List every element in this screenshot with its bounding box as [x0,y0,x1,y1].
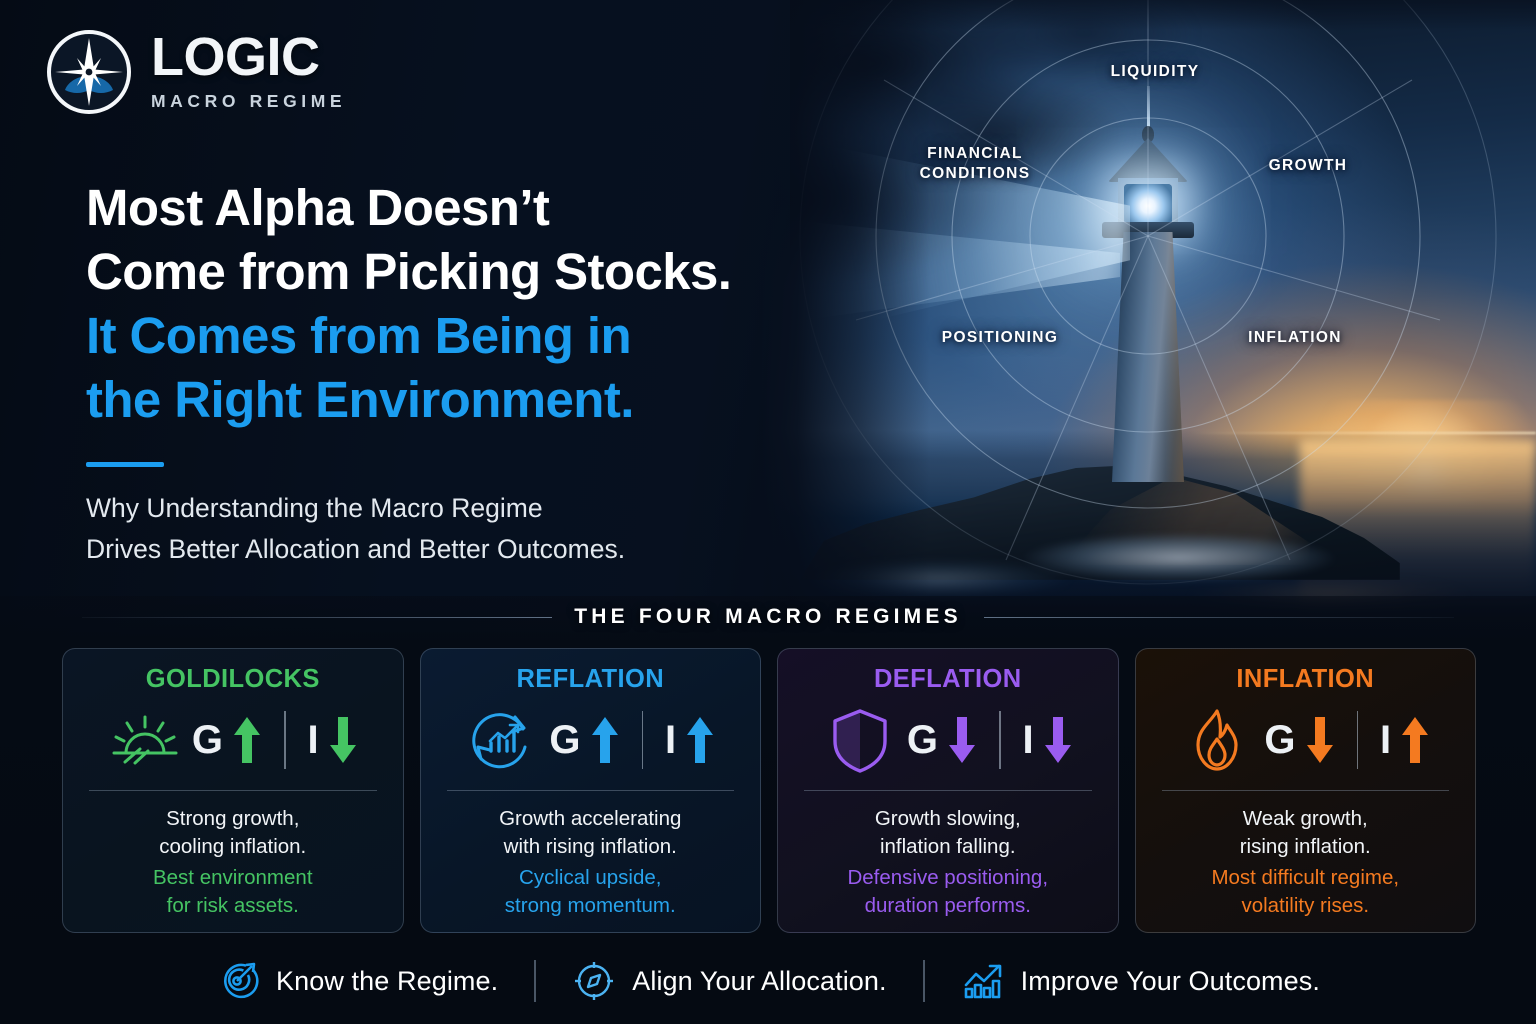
footer-step-improve-your-outcomes[interactable]: Improve Your Outcomes. [961,959,1320,1003]
shield-icon [823,703,897,777]
indicator-divider [642,711,644,769]
section-rule-right [984,617,1454,618]
regime-description: Growth accelerating with rising inflatio… [439,805,743,860]
footer-steps: Know the Regime. Align Your Allocation. [0,946,1536,1016]
regime-indicators: G I [81,698,385,782]
sunrise-icon [108,703,182,777]
subheadline-block: Why Understanding the Macro Regime Drive… [86,488,786,569]
footer-divider [923,960,925,1002]
inflation-label: I [1380,720,1391,760]
growth-label: G [1264,720,1295,760]
target-arrow-icon [216,959,260,1003]
growth-indicator: G [192,713,262,767]
arrow-down-icon [1305,713,1335,767]
regime-desc-line-2: inflation falling. [796,833,1100,861]
radar-label-inflation: INFLATION [1230,328,1360,348]
regime-desc-line-2: cooling inflation. [81,833,385,861]
regime-description: Weak growth, rising inflation. [1154,805,1458,860]
regime-indicators: G I [796,698,1100,782]
headline-line-3: It Comes from Being in [86,304,806,368]
radar-label-financial-conditions: FINANCIAL CONDITIONS [880,144,1070,185]
card-divider [804,790,1092,791]
regime-indicators: G I [439,698,743,782]
footer-divider [534,960,536,1002]
arrow-down-icon [1043,713,1073,767]
regime-accent-line-2: strong momentum. [439,892,743,920]
regime-indicators: G I [1154,698,1458,782]
brand-logo-text: LOGIC MACRO REGIME [151,32,346,112]
horizon-line [1190,432,1536,434]
regime-card-deflation[interactable]: DEFLATION G I [777,648,1119,933]
growth-cycle-icon [465,703,539,777]
regime-accent-line-1: Defensive positioning, [796,864,1100,892]
regime-card-reflation[interactable]: REFLATION [420,648,762,933]
regime-desc-line-1: Growth slowing, [796,805,1100,833]
card-divider [89,790,377,791]
regime-title: DEFLATION [796,665,1100,694]
brand-logo[interactable]: LOGIC MACRO REGIME [45,28,346,116]
radar-label-positioning: POSITIONING [925,328,1075,348]
radar-label-growth: GROWTH [1248,156,1368,176]
footer-step-align-your-allocation[interactable]: Align Your Allocation. [572,959,886,1003]
regime-desc-line-2: with rising inflation. [439,833,743,861]
regime-description: Strong growth, cooling inflation. [81,805,385,860]
radar-label-liquidity: LIQUIDITY [1100,62,1210,82]
headline-block: Most Alpha Doesn’t Come from Picking Sto… [86,176,806,432]
accent-rule [86,462,164,467]
regime-accent-line-2: for risk assets. [81,892,385,920]
headline-line-2: Come from Picking Stocks. [86,240,806,304]
regime-accent-line-2: duration performs. [796,892,1100,920]
regime-desc-line-1: Growth accelerating [439,805,743,833]
inflation-label: I [308,720,319,760]
radar-label-financial-line2: CONDITIONS [880,164,1070,184]
lighthouse-lamp [1124,184,1172,224]
regime-title: GOLDILOCKS [81,665,385,694]
arrow-down-icon [328,713,358,767]
indicator-divider [999,711,1001,769]
bar-chart-rising-icon [961,959,1005,1003]
subheadline-line-2: Drives Better Allocation and Better Outc… [86,529,786,570]
regime-desc-line-1: Strong growth, [81,805,385,833]
card-divider [1162,790,1450,791]
arrow-up-icon [685,713,715,767]
regime-desc-line-2: rising inflation. [1154,833,1458,861]
regime-accent: Most difficult regime, volatility rises. [1154,864,1458,919]
section-header: THE FOUR MACRO REGIMES [82,600,1454,634]
inflation-indicator: I [665,713,715,767]
arrow-up-icon [232,713,262,767]
regime-cards: GOLDILOCKS G [62,648,1476,933]
regime-card-goldilocks[interactable]: GOLDILOCKS G [62,648,404,933]
card-divider [447,790,735,791]
arrow-up-icon [1400,713,1430,767]
growth-indicator: G [549,713,619,767]
radar-label-financial-line1: FINANCIAL [880,144,1070,164]
regime-card-inflation[interactable]: INFLATION G I [1135,648,1477,933]
arrow-down-icon [947,713,977,767]
footer-step-label: Know the Regime. [276,966,498,997]
regime-accent-line-1: Most difficult regime, [1154,864,1458,892]
inflation-label: I [1023,720,1034,760]
headline: Most Alpha Doesn’t Come from Picking Sto… [86,176,806,432]
section-rule-left [82,617,552,618]
section-title: THE FOUR MACRO REGIMES [574,605,962,629]
growth-indicator: G [1264,713,1334,767]
lighthouse-spire [1147,86,1150,130]
flame-icon [1180,703,1254,777]
indicator-divider [1357,711,1359,769]
compass-icon [572,959,616,1003]
footer-step-label: Align Your Allocation. [632,966,886,997]
regime-accent: Cyclical upside, strong momentum. [439,864,743,919]
growth-label: G [192,720,223,760]
inflation-indicator: I [1380,713,1430,767]
headline-line-4: the Right Environment. [86,368,806,432]
inflation-indicator: I [308,713,358,767]
regime-accent-line-2: volatility rises. [1154,892,1458,920]
growth-label: G [549,720,580,760]
headline-line-1: Most Alpha Doesn’t [86,176,806,240]
regime-description: Growth slowing, inflation falling. [796,805,1100,860]
growth-indicator: G [907,713,977,767]
lighthouse-roof [1108,138,1188,182]
regime-accent: Defensive positioning, duration performs… [796,864,1100,919]
regime-accent-line-1: Best environment [81,864,385,892]
regime-accent: Best environment for risk assets. [81,864,385,919]
regime-title: INFLATION [1154,665,1458,694]
footer-step-label: Improve Your Outcomes. [1021,966,1320,997]
lighthouse [1078,92,1218,482]
lighthouse-tower-highlight [1112,232,1184,482]
growth-label: G [907,720,938,760]
brand-tagline: MACRO REGIME [151,91,346,112]
brand-name: LOGIC [151,32,346,84]
footer-step-know-the-regime[interactable]: Know the Regime. [216,959,498,1003]
regime-desc-line-1: Weak growth, [1154,805,1458,833]
regime-title: REFLATION [439,665,743,694]
compass-rose-icon [45,28,133,116]
inflation-label: I [665,720,676,760]
subheadline-line-1: Why Understanding the Macro Regime [86,488,786,529]
inflation-indicator: I [1023,713,1073,767]
regime-accent-line-1: Cyclical upside, [439,864,743,892]
arrow-up-icon [590,713,620,767]
indicator-divider [284,711,286,769]
infographic-canvas: LIQUIDITY FINANCIAL CONDITIONS GROWTH PO… [0,0,1536,1024]
